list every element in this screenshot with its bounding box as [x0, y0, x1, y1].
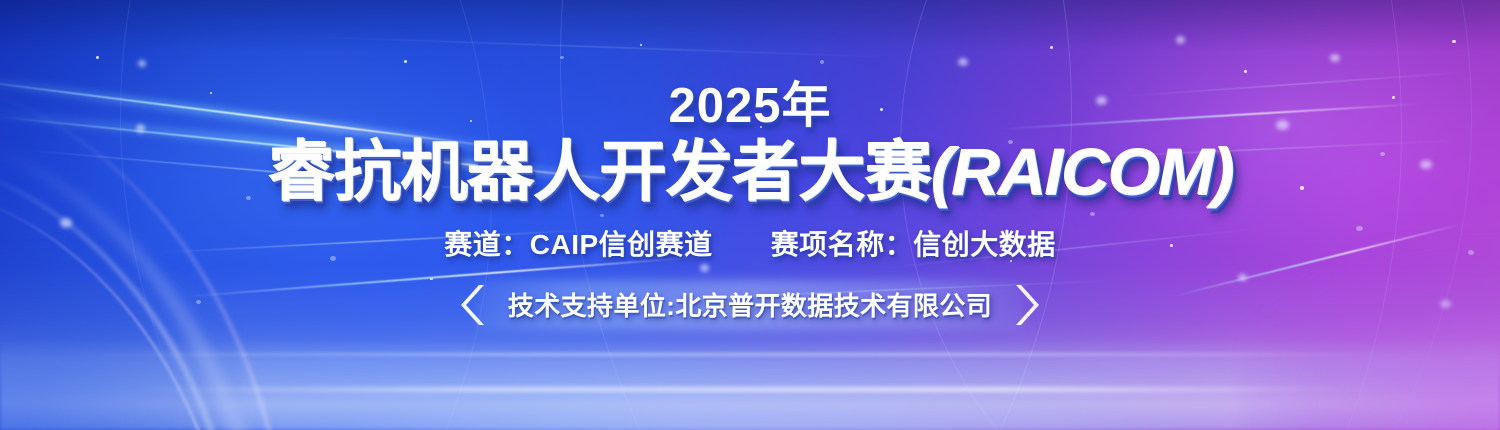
left-chevron-icon [460, 283, 486, 327]
supporter-band: 技术支持单位:北京普开数据技术有限公司 [454, 283, 1046, 327]
track-label: 赛道：CAIP信创赛道 [444, 223, 712, 263]
main-title-acronym: (RAICOM) [931, 134, 1233, 208]
subtitle-row: 赛道：CAIP信创赛道 赛项名称：信创大数据 [444, 223, 1055, 263]
banner-content: 2025年 睿抗机器人开发者大赛(RAICOM) 赛道：CAIP信创赛道 赛项名… [0, 0, 1500, 430]
main-title: 睿抗机器人开发者大赛(RAICOM) [268, 137, 1233, 207]
supporter-text: 技术支持单位:北京普开数据技术有限公司 [508, 286, 992, 323]
right-chevron-icon [1014, 283, 1040, 327]
event-label: 赛项名称：信创大数据 [771, 223, 1056, 263]
event-banner: 2025年 睿抗机器人开发者大赛(RAICOM) 赛道：CAIP信创赛道 赛项名… [0, 0, 1500, 430]
main-title-cn: 睿抗机器人开发者大赛 [268, 134, 931, 208]
year-title: 2025年 [668, 82, 831, 131]
